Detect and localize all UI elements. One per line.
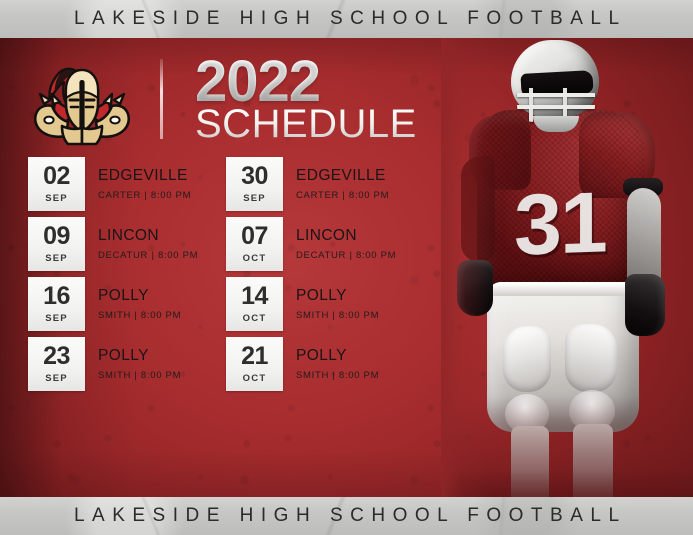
title-divider-rule bbox=[160, 59, 163, 139]
game-row[interactable]: 16 SEP POLLY SMITH | 8:00 PM bbox=[28, 277, 226, 331]
game-info: EDGEVILLE CARTER | 8:00 PM bbox=[283, 157, 389, 211]
game-row[interactable]: 21 OCT POLLY SMITH | 8:00 PM bbox=[226, 337, 424, 391]
bottom-banner: LAKESIDE HIGH SCHOOL FOOTBALL bbox=[0, 497, 693, 535]
venue-time: SMITH | 8:00 PM bbox=[296, 370, 379, 381]
date-box: 21 OCT bbox=[226, 337, 283, 391]
venue-time: DECATUR | 8:00 PM bbox=[98, 250, 198, 261]
date-box: 09 SEP bbox=[28, 217, 85, 271]
player-thigh-pad-left bbox=[503, 326, 551, 392]
game-row[interactable]: 02 SEP EDGEVILLE CARTER | 8:00 PM bbox=[28, 157, 226, 211]
opponent-name: LINCON bbox=[98, 227, 198, 244]
date-day: 16 bbox=[43, 284, 70, 309]
date-day: 30 bbox=[241, 164, 268, 189]
game-info: POLLY SMITH | 8:00 PM bbox=[85, 337, 181, 391]
date-month: SEP bbox=[45, 193, 68, 204]
poster-title-block: 2022 SCHEDULE bbox=[195, 55, 417, 142]
poster-subtitle: SCHEDULE bbox=[195, 105, 417, 143]
poster-header: 2022 SCHEDULE bbox=[22, 50, 417, 148]
date-day: 14 bbox=[241, 284, 268, 309]
player-glove-right bbox=[625, 274, 665, 336]
game-info: POLLY SMITH | 8:00 PM bbox=[85, 277, 181, 331]
game-row[interactable]: 30 SEP EDGEVILLE CARTER | 8:00 PM bbox=[226, 157, 424, 211]
jersey-number: 31 bbox=[501, 176, 619, 272]
date-month: SEP bbox=[45, 373, 68, 384]
date-month: SEP bbox=[45, 313, 68, 324]
date-month: SEP bbox=[243, 193, 266, 204]
venue-time: CARTER | 8:00 PM bbox=[296, 190, 389, 201]
date-box: 23 SEP bbox=[28, 337, 85, 391]
player-belt bbox=[487, 282, 639, 296]
date-day: 23 bbox=[43, 344, 70, 369]
date-day: 07 bbox=[241, 224, 268, 249]
knight-helmet-crest-logo bbox=[22, 50, 142, 148]
opponent-name: POLLY bbox=[98, 287, 181, 304]
player-arm-left bbox=[461, 156, 495, 262]
knight-logo-svg bbox=[22, 50, 142, 148]
opponent-name: POLLY bbox=[296, 287, 379, 304]
game-info: LINCON DECATUR | 8:00 PM bbox=[85, 217, 198, 271]
opponent-name: EDGEVILLE bbox=[98, 167, 191, 184]
game-row[interactable]: 14 OCT POLLY SMITH | 8:00 PM bbox=[226, 277, 424, 331]
bottom-banner-text: LAKESIDE HIGH SCHOOL FOOTBALL bbox=[66, 505, 626, 527]
date-box: 02 SEP bbox=[28, 157, 85, 211]
player-thigh-pad-right bbox=[565, 324, 617, 392]
venue-time: CARTER | 8:00 PM bbox=[98, 190, 191, 201]
date-day: 21 bbox=[241, 344, 268, 369]
top-banner-text: LAKESIDE HIGH SCHOOL FOOTBALL bbox=[66, 8, 626, 30]
game-info: POLLY SMITH | 8:00 PM bbox=[283, 277, 379, 331]
opponent-name: EDGEVILLE bbox=[296, 167, 389, 184]
player-glove-left bbox=[457, 260, 493, 316]
game-row[interactable]: 23 SEP POLLY SMITH | 8:00 PM bbox=[28, 337, 226, 391]
opponent-name: LINCON bbox=[296, 227, 396, 244]
date-month: OCT bbox=[243, 253, 267, 264]
venue-time: SMITH | 8:00 PM bbox=[98, 310, 181, 321]
date-box: 16 SEP bbox=[28, 277, 85, 331]
date-box: 30 SEP bbox=[226, 157, 283, 211]
venue-time: SMITH | 8:00 PM bbox=[98, 370, 181, 381]
opponent-name: POLLY bbox=[296, 347, 379, 364]
game-info: EDGEVILLE CARTER | 8:00 PM bbox=[85, 157, 191, 211]
game-info: POLLY SMITH | 8:00 PM bbox=[283, 337, 379, 391]
date-box: 07 OCT bbox=[226, 217, 283, 271]
game-info: LINCON DECATUR | 8:00 PM bbox=[283, 217, 396, 271]
schedule-grid: 02 SEP EDGEVILLE CARTER | 8:00 PM 30 SEP… bbox=[28, 157, 428, 391]
poster-year: 2022 bbox=[195, 55, 417, 108]
player-leg-left bbox=[511, 426, 549, 497]
venue-time: SMITH | 8:00 PM bbox=[296, 310, 379, 321]
date-day: 02 bbox=[43, 164, 70, 189]
date-day: 09 bbox=[43, 224, 70, 249]
opponent-name: POLLY bbox=[98, 347, 181, 364]
football-schedule-poster: 31 bbox=[0, 0, 693, 535]
date-month: SEP bbox=[45, 253, 68, 264]
date-month: OCT bbox=[243, 373, 267, 384]
venue-time: DECATUR | 8:00 PM bbox=[296, 250, 396, 261]
top-banner: LAKESIDE HIGH SCHOOL FOOTBALL bbox=[0, 0, 693, 38]
football-player-photo: 31 bbox=[441, 38, 693, 497]
game-row[interactable]: 07 OCT LINCON DECATUR | 8:00 PM bbox=[226, 217, 424, 271]
date-month: OCT bbox=[243, 313, 267, 324]
game-row[interactable]: 09 SEP LINCON DECATUR | 8:00 PM bbox=[28, 217, 226, 271]
player-leg-right bbox=[573, 424, 613, 497]
date-box: 14 OCT bbox=[226, 277, 283, 331]
